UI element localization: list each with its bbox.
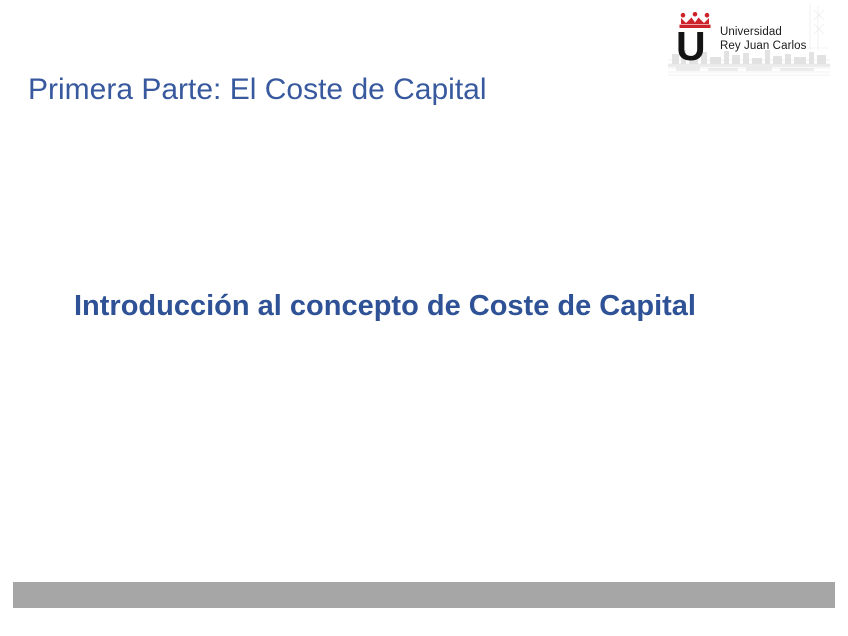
- logo-wordmark: Universidad Rey Juan Carlos: [720, 26, 807, 53]
- slide-title: Primera Parte: El Coste de Capital: [28, 72, 487, 108]
- logo-letter-u: U: [676, 26, 716, 66]
- logo-wordmark-line2: Rey Juan Carlos: [720, 40, 807, 54]
- presentation-slide: U Universidad Rey Juan Carlos Primera Pa…: [0, 0, 848, 636]
- footer-bar: [13, 582, 835, 608]
- logo-wordmark-line1: Universidad: [720, 26, 807, 40]
- slide-body-headline: Introducción al concepto de Coste de Cap…: [74, 288, 774, 324]
- university-logo: U Universidad Rey Juan Carlos: [668, 4, 830, 78]
